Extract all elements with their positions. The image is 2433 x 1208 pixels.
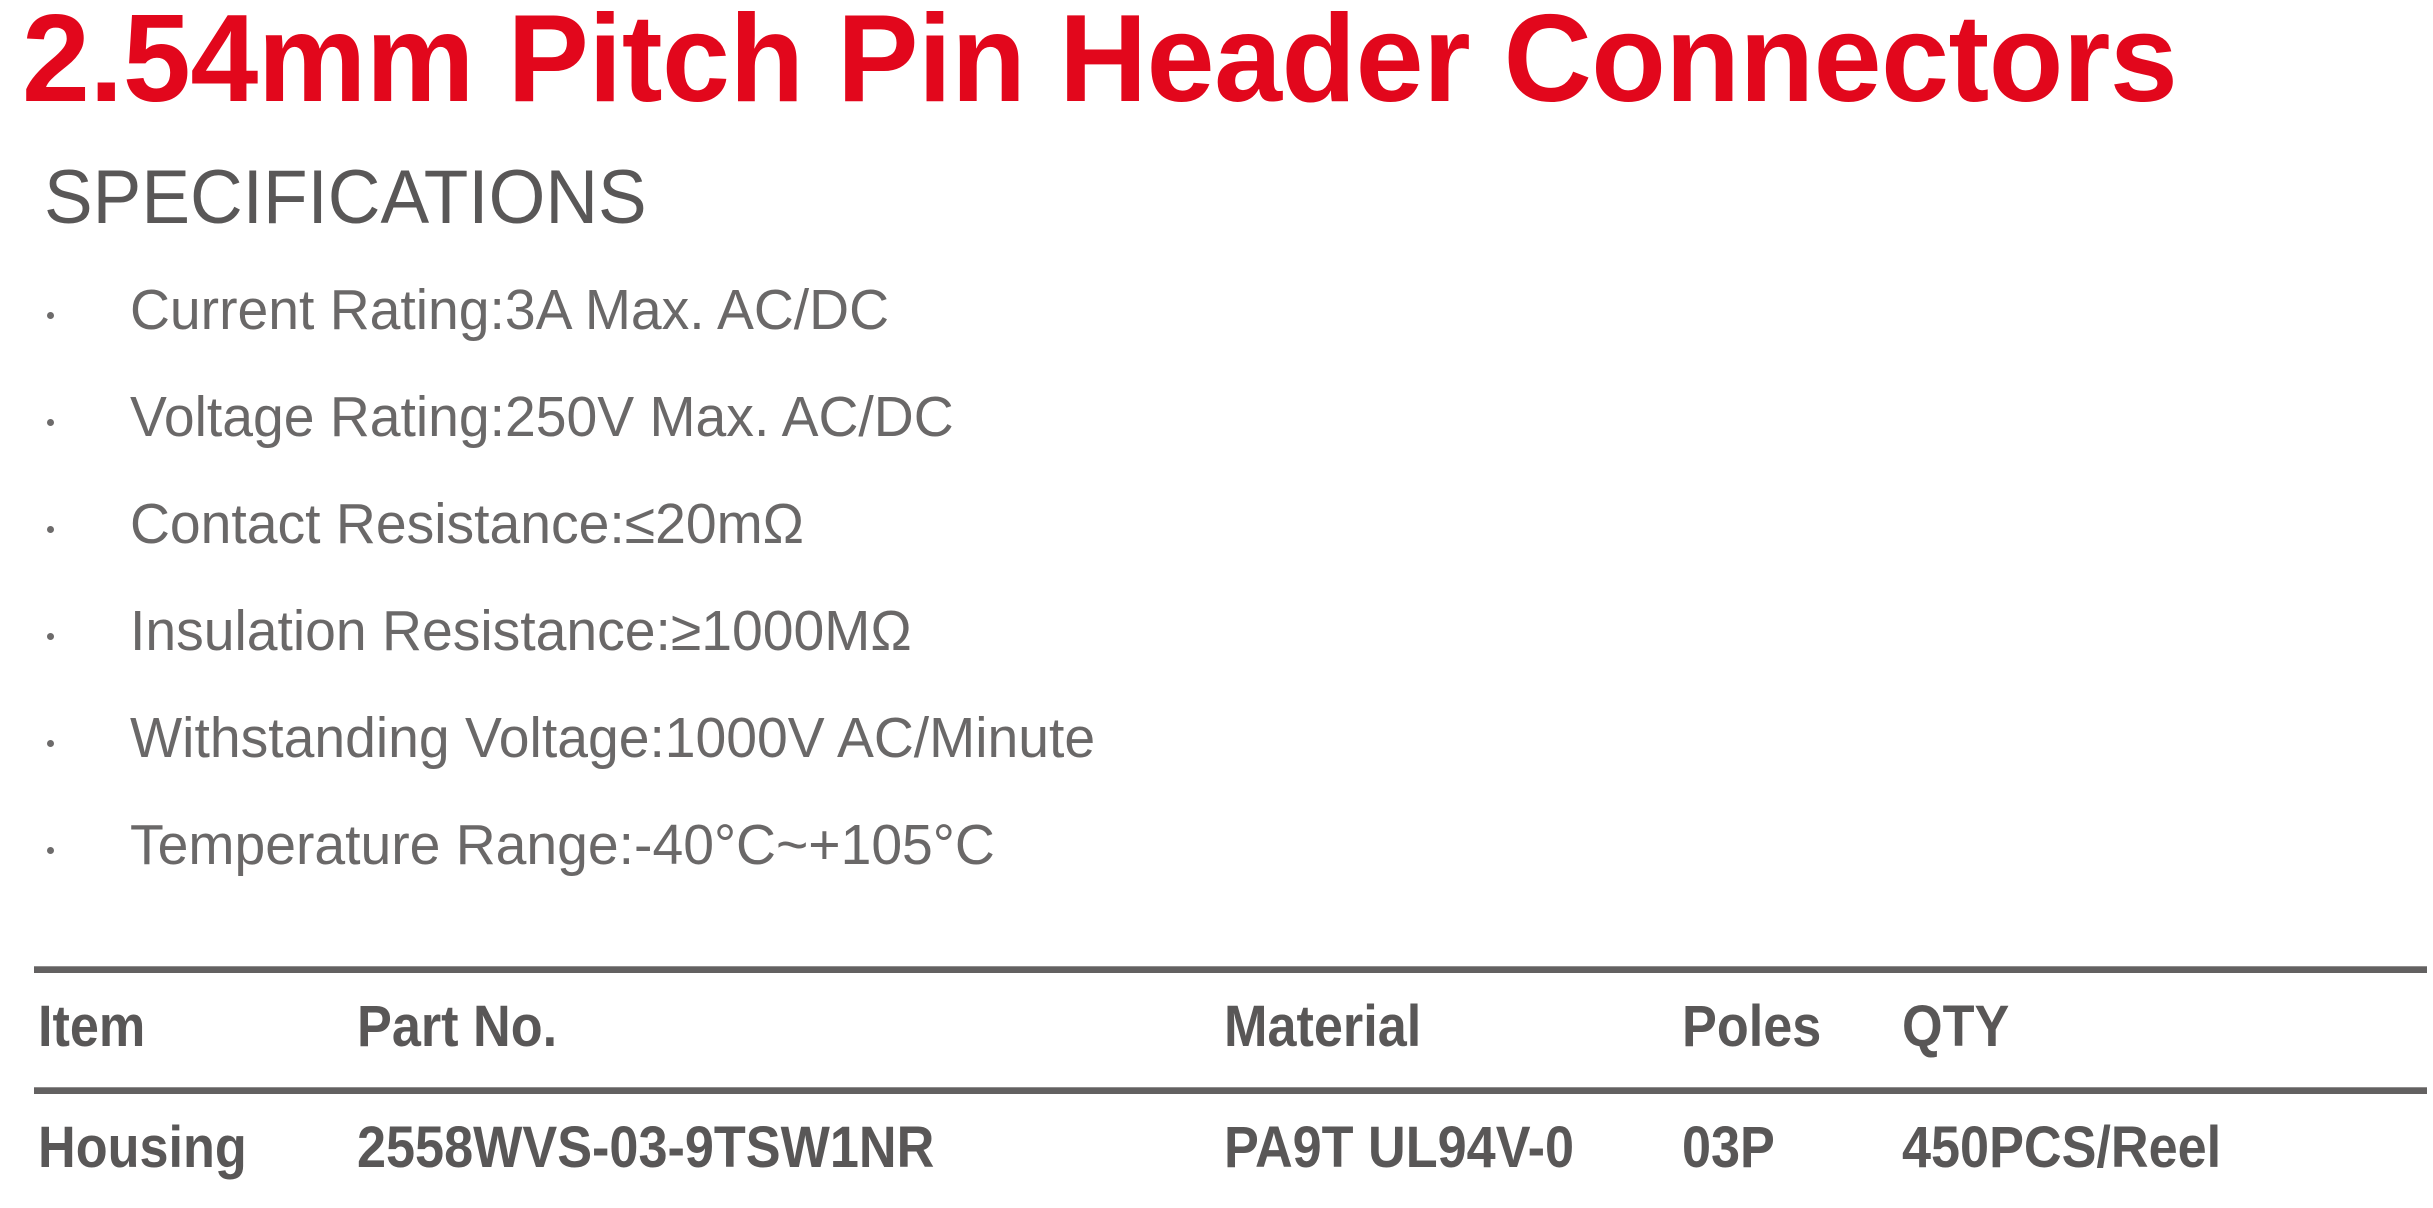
- column-header-material: Material: [1224, 989, 1421, 1065]
- list-item: Temperature Range:-40°C~+105°C: [0, 811, 2433, 880]
- cell-item: Housing: [38, 1110, 247, 1186]
- spec-text: Contact Resistance:≤20mΩ: [130, 490, 804, 559]
- table-top-rule: [34, 966, 2427, 973]
- column-header-poles: Poles: [1682, 989, 1821, 1065]
- table-header-row: Item Part No. Material Poles QTY: [34, 973, 2427, 1087]
- table-header-rule: [34, 1087, 2427, 1094]
- spec-text: Voltage Rating:250V Max. AC/DC: [130, 383, 954, 452]
- bullet-icon: [47, 740, 54, 747]
- bullet-icon: [47, 633, 54, 640]
- spec-text: Insulation Resistance:≥1000MΩ: [130, 597, 912, 666]
- page-title: 2.54mm Pitch Pin Header Connectors: [22, 0, 2177, 124]
- parts-table: Item Part No. Material Poles QTY Housing…: [34, 966, 2427, 1208]
- spec-text: Withstanding Voltage:1000V AC/Minute: [130, 704, 1095, 773]
- table-row: Housing 2558WVS-03-9TSW1NR PA9T UL94V-0 …: [34, 1094, 2427, 1208]
- bullet-icon: [47, 526, 54, 533]
- list-item: Contact Resistance:≤20mΩ: [0, 490, 2433, 559]
- cell-part-no: 2558WVS-03-9TSW1NR: [357, 1110, 934, 1186]
- list-item: Voltage Rating:250V Max. AC/DC: [0, 383, 2433, 452]
- spec-text: Current Rating:3A Max. AC/DC: [130, 276, 889, 345]
- column-header-part-no: Part No.: [357, 989, 557, 1065]
- specifications-heading: SPECIFICATIONS: [44, 152, 647, 244]
- cell-qty: 450PCS/Reel: [1902, 1110, 2221, 1186]
- bullet-icon: [47, 847, 54, 854]
- column-header-item: Item: [38, 989, 145, 1065]
- list-item: Insulation Resistance:≥1000MΩ: [0, 597, 2433, 666]
- bullet-icon: [47, 419, 54, 426]
- list-item: Current Rating:3A Max. AC/DC: [0, 276, 2433, 345]
- bullet-icon: [47, 312, 54, 319]
- column-header-qty: QTY: [1902, 989, 2009, 1065]
- specifications-list: Current Rating:3A Max. AC/DC Voltage Rat…: [0, 276, 2433, 918]
- spec-text: Temperature Range:-40°C~+105°C: [130, 811, 995, 880]
- list-item: Withstanding Voltage:1000V AC/Minute: [0, 704, 2433, 773]
- cell-poles: 03P: [1682, 1110, 1775, 1186]
- cell-material: PA9T UL94V-0: [1224, 1110, 1574, 1186]
